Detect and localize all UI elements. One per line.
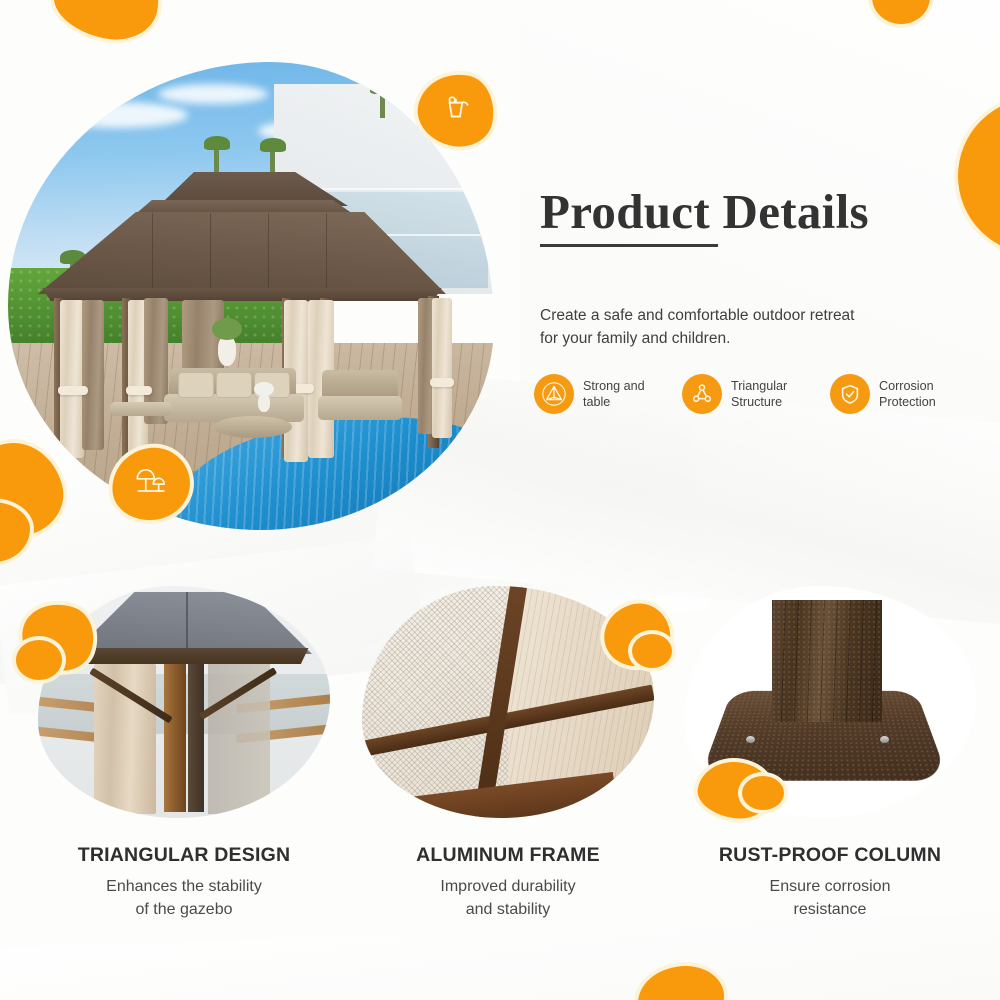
gazebo-corner-post — [164, 662, 186, 812]
card-caption-line1: Enhances the stability — [106, 878, 262, 895]
plant — [212, 318, 242, 340]
palm-fronds — [370, 80, 396, 94]
roof-seam — [268, 213, 269, 293]
feature-list: Strong and table Triangular Structure — [534, 374, 978, 414]
feature-label: Strong and table — [583, 378, 645, 410]
gazebo-column — [772, 600, 882, 722]
card-heading: ALUMINUM FRAME — [348, 844, 668, 867]
side-table — [110, 402, 172, 416]
base-screw — [880, 736, 889, 743]
armchair — [318, 396, 402, 420]
hero-product-image — [8, 62, 494, 530]
decorative-blob — [742, 776, 784, 810]
card-caption-line2: of the gazebo — [136, 901, 233, 918]
feature-label-line2: Protection — [879, 395, 936, 409]
decorative-blob — [16, 640, 62, 680]
triangle-nodes-icon — [682, 374, 722, 414]
shield-check-icon — [830, 374, 870, 414]
feature-label-line1: Strong and — [583, 379, 645, 393]
feature-label-line2: table — [583, 395, 610, 409]
cloud — [158, 84, 268, 104]
gazebo-curtain — [60, 300, 84, 458]
gazebo-main-roof — [38, 212, 446, 294]
decorative-blob — [632, 634, 672, 668]
card-caption-line2: and stability — [466, 901, 551, 918]
card-caption-line1: Ensure corrosion — [770, 878, 891, 895]
curtain-tieback — [430, 378, 454, 387]
page-title-block: Product Details — [540, 186, 970, 247]
palm-fronds — [260, 138, 286, 152]
cocktail-drink-icon — [439, 91, 473, 130]
cushion — [178, 372, 214, 398]
card-caption: Enhances the stability of the gazebo — [24, 876, 344, 921]
card-heading: TRIANGULAR DESIGN — [24, 844, 344, 867]
feature-item-triangular-structure: Triangular Structure — [682, 374, 830, 414]
feature-label-line1: Triangular — [731, 379, 787, 393]
gazebo — [32, 172, 452, 472]
gazebo-curtain — [82, 300, 104, 450]
cushion — [216, 372, 252, 398]
gazebo-corner-post — [188, 662, 204, 812]
curtain-tieback — [58, 386, 88, 395]
flowers — [254, 382, 274, 396]
mesh-netting — [208, 664, 270, 814]
card-caption: Ensure corrosion resistance — [670, 876, 990, 921]
roof-seam — [186, 592, 188, 654]
palm-trunk — [380, 92, 385, 118]
gazebo-fascia — [64, 648, 316, 664]
feature-label-line1: Corrosion — [879, 379, 934, 393]
floor-vase — [218, 336, 236, 366]
feature-item-strong-and-table: Strong and table — [534, 374, 682, 414]
feature-item-corrosion-protection: Corrosion Protection — [830, 374, 978, 414]
coffee-table — [214, 416, 292, 438]
card-caption-line2: resistance — [794, 901, 867, 918]
card-heading: RUST-PROOF COLUMN — [670, 844, 990, 867]
cloud — [48, 102, 188, 128]
page-subtitle: Create a safe and comfortable outdoor re… — [540, 304, 870, 351]
title-underline — [540, 244, 718, 247]
roof-seam — [210, 213, 211, 293]
feature-card-rust-proof-column: RUST-PROOF COLUMN Ensure corrosion resis… — [670, 586, 990, 921]
hero-scene — [8, 62, 494, 530]
card-caption: Improved durability and stability — [348, 876, 668, 921]
product-details-page: Product Details Create a safe and comfor… — [0, 0, 1000, 1000]
decorative-blob — [48, 0, 167, 48]
palm-trunk — [214, 148, 219, 174]
gazebo-curtain — [432, 298, 452, 438]
palm-fronds — [204, 136, 230, 150]
decorative-blob — [872, 0, 930, 24]
feature-label: Triangular Structure — [731, 378, 787, 410]
curtain-tieback — [126, 386, 152, 395]
column-texture — [772, 600, 882, 722]
pyramid-icon — [534, 374, 574, 414]
card-caption-line1: Improved durability — [440, 878, 575, 895]
page-title: Product Details — [540, 186, 970, 237]
feature-card-grid: TRIANGULAR DESIGN Enhances the stability… — [0, 586, 1000, 986]
flower-vase — [258, 394, 270, 412]
base-screw — [746, 736, 755, 743]
gazebo-curtain — [94, 664, 156, 814]
beach-umbrella-icon — [133, 465, 169, 504]
roof-seam — [152, 213, 153, 293]
feature-label: Corrosion Protection — [879, 378, 936, 410]
roof-seam — [326, 213, 327, 293]
feature-label-line2: Structure — [731, 395, 782, 409]
